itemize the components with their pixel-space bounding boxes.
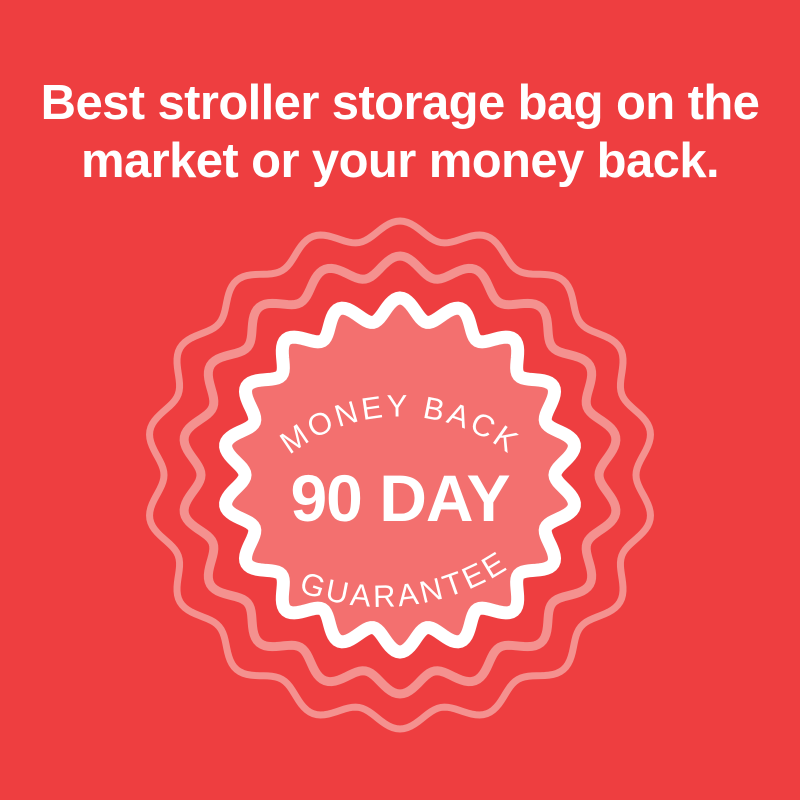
guarantee-badge: MONEY BACK GUARANTEE 90 DAY bbox=[0, 190, 800, 800]
badge-scalloped-shape bbox=[140, 215, 660, 735]
page-title: Best stroller storage bag on the market … bbox=[0, 74, 800, 190]
promo-poster: Best stroller storage bag on the market … bbox=[0, 0, 800, 800]
